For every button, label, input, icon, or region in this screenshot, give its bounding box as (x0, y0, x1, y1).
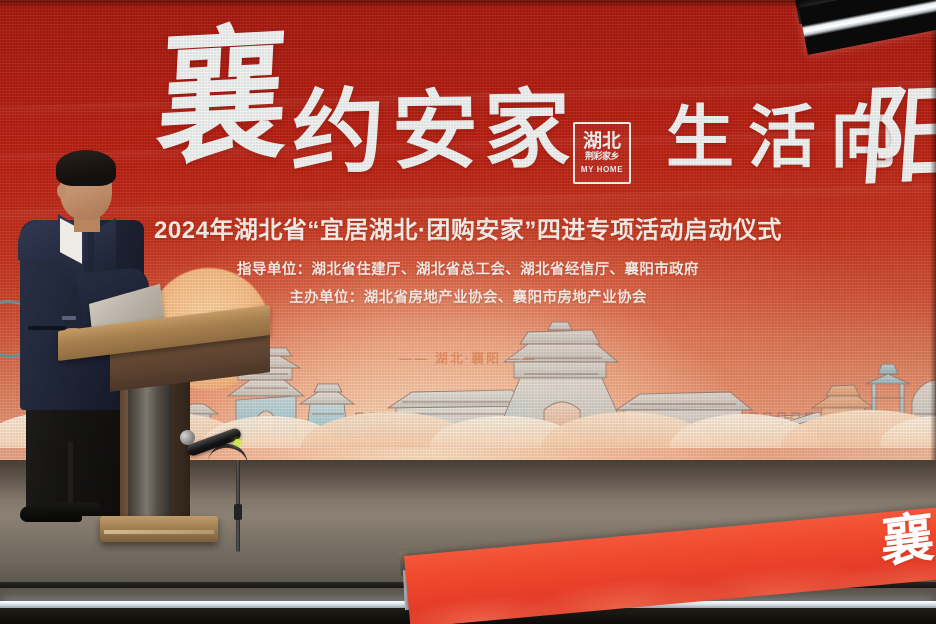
led-wall-right-edge (930, 0, 936, 472)
logo-sub-text: 荆彩家乡 (585, 153, 619, 162)
wooden-podium (58, 272, 288, 502)
hubei-my-home-logo: 湖北 荆彩家乡 MY HOME (573, 122, 631, 184)
event-stage-photo: 襄 约 安家 生活向 阳 湖北 荆彩家乡 MY HOME 2024年湖北省“宜居… (0, 0, 936, 624)
ear (57, 184, 66, 198)
hair (56, 150, 116, 186)
podium-metal-panel (128, 376, 172, 524)
table-calligraphy: 襄 (880, 509, 936, 570)
podium-base-trim (104, 530, 214, 534)
podium-base (100, 516, 218, 542)
shoe-right (48, 502, 100, 516)
microphone-mount (234, 504, 242, 520)
logo-english-text: MY HOME (581, 165, 623, 174)
microphone-status-led (234, 439, 241, 446)
